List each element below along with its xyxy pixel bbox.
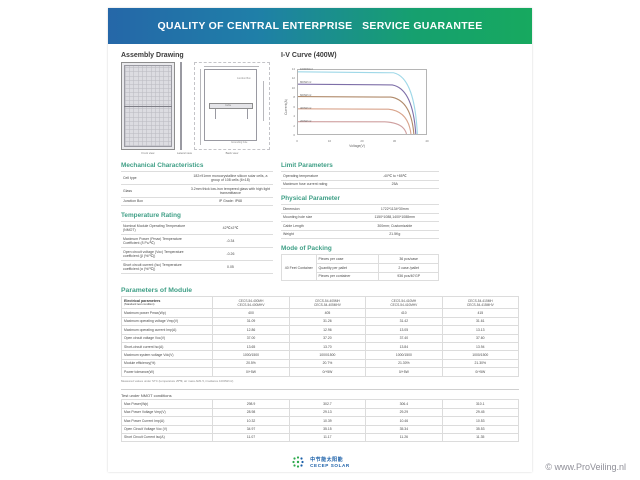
table-row: Max Power(Wp)298.9302.7306.4310.1 <box>122 400 519 408</box>
table-row: Max Power Voltage Vmp(V)28.9829.1329.292… <box>122 408 519 416</box>
stc-note: Measured values under STC (temperature 2… <box>121 379 519 383</box>
row-label: Pieces per case <box>316 255 379 264</box>
nmot-table: Max Power(Wp)298.9302.7306.4310.1Max Pow… <box>121 399 519 442</box>
temperature-rating-title: Temperature Rating <box>121 212 273 219</box>
row-value: 0/+5W <box>366 368 442 376</box>
left-spec-column: Mechanical Characteristics Cell type182×… <box>121 162 273 281</box>
mode-of-packing-table: 40 Feet ContainerPieces per case36 pcs/c… <box>281 254 439 281</box>
page-content: Assembly Drawing Front view Lateral view <box>108 44 532 476</box>
solar-cell-grid <box>124 65 172 147</box>
row-value: 31.61 <box>442 317 518 325</box>
row-value: 1150*1088,1400*1088mm <box>351 213 439 222</box>
row-value: 10.32 <box>213 417 289 425</box>
row-value: 36 pcs/case <box>379 255 439 264</box>
physical-parameter-title: Physical Parameter <box>281 195 439 202</box>
x-tick: 10 <box>328 139 331 143</box>
table-row: Cable Length300mm; Customizable <box>281 222 439 231</box>
iv-curve-chart: Current(A) Voltage(V) 02468101214 010203… <box>281 65 433 149</box>
parameters-of-module-section: Parameters of Module Electrical paramete… <box>121 287 519 442</box>
row-value: 1000/1500 <box>213 351 289 359</box>
row-value: 1722*1134*30mm <box>351 205 439 214</box>
row-value: 182×91mm monocrystalline silicon solar c… <box>188 172 273 185</box>
curve-label: 400W/m² <box>300 106 311 110</box>
row-value: 0/+5W <box>289 368 365 376</box>
x-axis-label: Voltage(V) <box>281 144 433 148</box>
limit-parameters-table: Operating temperature-40℃ to +85℃Maximum… <box>281 171 439 189</box>
table-row: Operating temperature-40℃ to +85℃ <box>281 172 439 181</box>
panel-front-view <box>121 62 175 150</box>
row-value: 13.65 <box>213 343 289 351</box>
row-label: Maximum power Pmax(Wp) <box>122 309 213 317</box>
page-header: QUALITY OF CENTRAL ENTERPRISE SERVICE GU… <box>108 8 532 44</box>
row-value: -40℃ to +85℃ <box>351 172 439 181</box>
row-value: 11.07 <box>213 433 289 441</box>
row-label: Short-circuit current Isc(A) <box>122 343 213 351</box>
table-row: Nominal Module Operating Temperature (NM… <box>121 222 273 235</box>
nmot-title: Test under NMOT conditions <box>121 389 519 398</box>
watermark: © www.ProVeiling.nl <box>545 462 626 472</box>
table-row: Glass3.2mm thick low-iron tempered glass… <box>121 184 273 197</box>
row-value: 21.5Kg <box>351 230 439 239</box>
row-value: IP Grade: IP68 <box>188 197 273 206</box>
row-value: 37.60 <box>442 334 518 342</box>
y-tick: 6 <box>285 105 295 109</box>
row-value: 2 case /pallet <box>379 263 439 272</box>
row-value: 42℃±2℃ <box>188 222 273 235</box>
table-row: 40 Feet ContainerPieces per case36 pcs/c… <box>282 255 439 264</box>
row-label: Maximum Power (Pmax) Temperature Coeffic… <box>121 235 188 248</box>
curve-label: 800W/m² <box>300 80 311 84</box>
row-value: 21.30% <box>366 359 442 367</box>
row-value: 306.4 <box>366 400 442 408</box>
row-value: 13.84 <box>366 343 442 351</box>
curve-label: 200W/m² <box>300 119 311 123</box>
row-label: Module efficiency(%) <box>122 359 213 367</box>
cecep-solar-logo-icon <box>290 454 306 470</box>
row-value: 31.42 <box>366 317 442 325</box>
iv-curve-600w <box>298 97 414 134</box>
footer-logo: 中节能太阳能 CECEP SOLAR <box>121 454 519 476</box>
table-row: Maximum system voltage Vdc(V)1000/150010… <box>122 351 519 359</box>
row-value: 10.53 <box>442 417 518 425</box>
row-label: Operating temperature <box>281 172 351 181</box>
row-value: 37.40 <box>366 334 442 342</box>
row-value: 298.9 <box>213 400 289 408</box>
table-row: Maximum fuse current rating25A <box>281 180 439 189</box>
table-row: Open Circuit Voltage Voc (V)34.9735.1535… <box>122 425 519 433</box>
row-label: Short circuit current (Isc) Temperature … <box>121 261 188 274</box>
row-value: 25A <box>351 180 439 189</box>
row-value: 10.46 <box>366 417 442 425</box>
limit-parameters-title: Limit Parameters <box>281 162 439 169</box>
model-header: CECS-54-405MHCECS-54-405MHV <box>289 297 365 309</box>
row-value: 29.45 <box>442 408 518 416</box>
table-row: Module efficiency(%)20.5%20.7%21.30%21.3… <box>122 359 519 367</box>
mode-of-packing-title: Mode of Packing <box>281 245 439 252</box>
row-label: Maximum system voltage Vdc(V) <box>122 351 213 359</box>
row-label: Maximum fuse current rating <box>281 180 351 189</box>
spec-row: Mechanical Characteristics Cell type182×… <box>121 162 519 281</box>
temperature-rating-table: Nominal Module Operating Temperature (NM… <box>121 221 273 274</box>
row-value: 13.94 <box>442 343 518 351</box>
row-value: 35.34 <box>366 425 442 433</box>
curve-label: 600W/m² <box>300 93 311 97</box>
mechanical-characteristics-title: Mechanical Characteristics <box>121 162 273 169</box>
assembly-drawing-title: Assembly Drawing <box>121 52 273 59</box>
top-row: Assembly Drawing Front view Lateral view <box>121 52 519 158</box>
assembly-drawing-figure: Front view Lateral view <box>121 62 273 158</box>
table-row: Power tolerance(W)0/+5W0/+5W0/+5W0/+5W <box>122 368 519 376</box>
row-value: 13.13 <box>442 326 518 334</box>
row-label: Junction Box <box>121 197 188 206</box>
row-label: Quantity per pallet <box>316 263 379 272</box>
row-value: 1000/1500 <box>289 351 365 359</box>
y-tick: 0 <box>285 133 295 137</box>
row-value: 21.30% <box>442 359 518 367</box>
x-tick: 0 <box>296 139 298 143</box>
grounding-hole-label: Grounding hole <box>231 141 247 144</box>
y-tick: 14 <box>285 67 295 71</box>
row-label: Maximum operating current Imp(A) <box>122 326 213 334</box>
table-row: Short circuit current (Isc) Temperature … <box>121 261 273 274</box>
row-label: Nominal Module Operating Temperature (NM… <box>121 222 188 235</box>
iv-curve-section: I-V Curve (400W) Current(A) Voltage(V) 0… <box>281 52 439 158</box>
y-tick: 10 <box>285 86 295 90</box>
datasheet-page: QUALITY OF CENTRAL ENTERPRISE SERVICE GU… <box>108 8 532 472</box>
cable-label: Cable <box>225 104 231 107</box>
table-row: Open circuit voltage Voc(V)37.0037.2037.… <box>122 334 519 342</box>
table-row: Junction BoxIP Grade: IP68 <box>121 197 273 206</box>
table-row: Cell type182×91mm monocrystalline silico… <box>121 172 273 185</box>
row-label: Max Power(Wp) <box>122 400 213 408</box>
row-label: Max Power Voltage Vmp(V) <box>122 408 213 416</box>
row-label: Short Circuit Current Isc(A) <box>122 433 213 441</box>
row-label: Weight <box>281 230 351 239</box>
right-spec-column: Limit Parameters Operating temperature-4… <box>281 162 439 281</box>
mechanical-characteristics-table: Cell type182×91mm monocrystalline silico… <box>121 171 273 206</box>
row-value: 0/+5W <box>442 368 518 376</box>
row-label: Power tolerance(W) <box>122 368 213 376</box>
panel-back-view: Junction Box Cable Grounding hole <box>194 62 270 150</box>
row-value: 31.26 <box>289 317 365 325</box>
row-value: 37.00 <box>213 334 289 342</box>
row-value: 415 <box>442 309 518 317</box>
row-value: 11.35 <box>442 433 518 441</box>
table-row: Max Power Current Imp(A)10.3210.3910.461… <box>122 417 519 425</box>
row-value: 35.53 <box>442 425 518 433</box>
row-value: 405 <box>289 309 365 317</box>
row-value: 410 <box>366 309 442 317</box>
model-header: CECS-54-415MHCECS-54-415MHV <box>442 297 518 309</box>
table-row: Maximum power Pmax(Wp)400405410415 <box>122 309 519 317</box>
x-tick: 20 <box>360 139 363 143</box>
row-value: -0.26 <box>188 248 273 261</box>
front-view-caption: Front view <box>121 151 175 155</box>
row-value: 310.1 <box>442 400 518 408</box>
model-header: CECS-54-410MHCECS-54-410MHV <box>366 297 442 309</box>
physical-parameter-table: Dimension1722*1134*30mmMounting hole siz… <box>281 204 439 239</box>
row-value: 31.09 <box>213 317 289 325</box>
table-row: Maximum Power (Pmax) Temperature Coeffic… <box>121 235 273 248</box>
row-value: 20.5% <box>213 359 289 367</box>
row-label: Mounting hole size <box>281 213 351 222</box>
y-tick: 12 <box>285 76 295 80</box>
row-value: 936 pcs/40'GP <box>379 272 439 281</box>
page-title: QUALITY OF CENTRAL ENTERPRISE SERVICE GU… <box>157 20 482 32</box>
x-tick: 30 <box>393 139 396 143</box>
iv-curve-title: I-V Curve (400W) <box>281 52 439 59</box>
row-value: 0/+5W <box>213 368 289 376</box>
row-value: -0.34 <box>188 235 273 248</box>
row-value: 35.15 <box>289 425 365 433</box>
row-value: 3.2mm thick low-iron tempered glass with… <box>188 184 273 197</box>
row-value: 29.29 <box>366 408 442 416</box>
table-row: Short Circuit Current Isc(A)11.0711.1711… <box>122 433 519 441</box>
row-label: Max Power Current Imp(A) <box>122 417 213 425</box>
y-tick: 8 <box>285 95 295 99</box>
iv-plot-area <box>297 69 427 135</box>
row-label: Cable Length <box>281 222 351 231</box>
row-value: 12.86 <box>213 326 289 334</box>
row-value: 0.05 <box>188 261 273 274</box>
table-row: Maximum operating voltage Vmp(V)31.0931.… <box>122 317 519 325</box>
assembly-drawing-section: Assembly Drawing Front view Lateral view <box>121 52 273 158</box>
lateral-view-caption: Lateral view <box>177 151 192 155</box>
row-value: 28.98 <box>213 408 289 416</box>
row-value: 34.97 <box>213 425 289 433</box>
table-row: Short-circuit current Isc(A)13.6513.7013… <box>122 343 519 351</box>
iv-curves-svg <box>298 70 426 134</box>
row-value: 1000/1500 <box>442 351 518 359</box>
iv-curve-200w <box>298 122 406 134</box>
row-label: Dimension <box>281 205 351 214</box>
row-value: 302.7 <box>289 400 365 408</box>
container-type-label: 40 Feet Container <box>282 255 317 281</box>
row-label: Glass <box>121 184 188 197</box>
panel-lateral-view <box>177 62 186 150</box>
row-value: 400 <box>213 309 289 317</box>
table-row: Maximum operating current Imp(A)12.8612.… <box>122 326 519 334</box>
row-value: 13.05 <box>366 326 442 334</box>
header-electrical-parameters: Electrical parameters(Standard test cond… <box>122 297 213 309</box>
row-value: 1000/1500 <box>366 351 442 359</box>
row-value: 12.96 <box>289 326 365 334</box>
model-header: CECS-54-400MHCECS-54-400MHV <box>213 297 289 309</box>
curve-label: 1000W/m² <box>300 67 313 71</box>
parameters-of-module-title: Parameters of Module <box>121 287 519 294</box>
table-row: Weight21.5Kg <box>281 230 439 239</box>
table-row: Dimension1722*1134*30mm <box>281 205 439 214</box>
brand-name-en: CECEP SOLAR <box>310 463 350 468</box>
junction-box-label: Junction Box <box>237 77 251 80</box>
row-value: 11.26 <box>366 433 442 441</box>
row-label: Open circuit voltage (Voc) Temperature c… <box>121 248 188 261</box>
row-value: 37.20 <box>289 334 365 342</box>
row-label: Maximum operating voltage Vmp(V) <box>122 317 213 325</box>
row-value: 13.70 <box>289 343 365 351</box>
row-value: 10.39 <box>289 417 365 425</box>
row-value: 11.17 <box>289 433 365 441</box>
table-row: Open circuit voltage (Voc) Temperature c… <box>121 248 273 261</box>
back-view-caption: Back view <box>194 151 270 155</box>
row-label: Open Circuit Voltage Voc (V) <box>122 425 213 433</box>
table-row: Mounting hole size1150*1088,1400*1088mm <box>281 213 439 222</box>
y-tick: 2 <box>285 124 295 128</box>
row-label: Open circuit voltage Voc(V) <box>122 334 213 342</box>
row-label: Pieces per container <box>316 272 379 281</box>
row-value: 300mm; Customizable <box>351 222 439 231</box>
table-header-row: Electrical parameters(Standard test cond… <box>122 297 519 309</box>
row-label: Cell type <box>121 172 188 185</box>
brand-name-cn: 中节能太阳能 <box>310 456 350 463</box>
row-value: 29.13 <box>289 408 365 416</box>
y-tick: 4 <box>285 114 295 118</box>
row-value: 20.7% <box>289 359 365 367</box>
x-tick: 40 <box>425 139 428 143</box>
parameters-of-module-table: Electrical parameters(Standard test cond… <box>121 296 519 377</box>
